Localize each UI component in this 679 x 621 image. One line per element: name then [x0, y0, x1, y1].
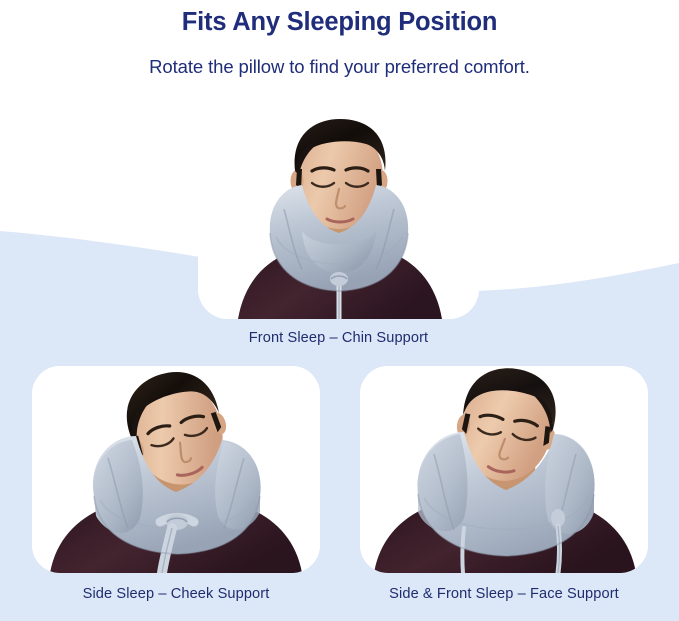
heading-block: Fits Any Sleeping Position Rotate the pi… — [0, 0, 679, 78]
product-image-card-side-sleep[interactable] — [32, 366, 320, 573]
side-sleep-photo — [32, 366, 320, 573]
page-subtitle: Rotate the pillow to find your preferred… — [0, 55, 679, 78]
front-sleep-photo — [198, 113, 479, 319]
page-title: Fits Any Sleeping Position — [0, 7, 679, 38]
caption-front-sleep: Front Sleep – Chin Support — [198, 330, 479, 346]
caption-side-sleep: Side Sleep – Cheek Support — [32, 586, 320, 602]
side-front-sleep-photo — [360, 366, 648, 573]
product-image-card-front-sleep[interactable] — [198, 113, 479, 319]
caption-side-front-sleep: Side & Front Sleep – Face Support — [360, 586, 648, 602]
product-image-card-side-front-sleep[interactable] — [360, 366, 648, 573]
product-feature-panel: Fits Any Sleeping Position Rotate the pi… — [0, 0, 679, 621]
